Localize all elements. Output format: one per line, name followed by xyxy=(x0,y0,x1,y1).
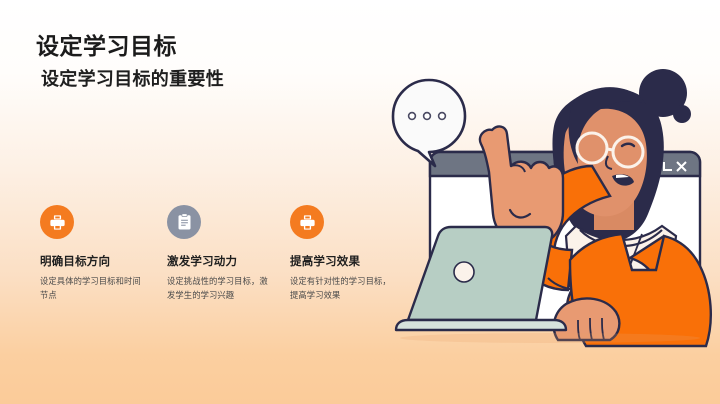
laptop-logo xyxy=(454,262,474,282)
feature-heading: 明确目标方向 xyxy=(40,253,152,269)
clipboard-icon-badge xyxy=(167,205,201,239)
printer-icon xyxy=(298,213,317,232)
ellipsis-dot xyxy=(409,113,416,120)
slide-canvas: 设定学习目标 设定学习目标的重要性 明确目标方向 设定具体的学习目标和时间节点 xyxy=(0,0,720,404)
printer-icon-badge xyxy=(290,205,324,239)
hero-illustration xyxy=(380,20,720,404)
feature-item-1: 明确目标方向 设定具体的学习目标和时间节点 xyxy=(40,205,152,302)
feature-body: 设定挑战性的学习目标，激发学生的学习兴趣 xyxy=(167,275,275,302)
printer-icon-badge xyxy=(40,205,74,239)
feature-list: 明确目标方向 设定具体的学习目标和时间节点 激发学习动力 设定挑战性的学习目标，… xyxy=(40,205,410,315)
feature-item-2: 激发学习动力 设定挑战性的学习目标，激发学生的学习兴趣 xyxy=(167,205,279,302)
illustration-svg xyxy=(380,20,720,404)
page-title: 设定学习目标 xyxy=(36,27,177,61)
feature-heading: 激发学习动力 xyxy=(167,253,279,269)
desk-shadow xyxy=(400,333,700,343)
feature-body: 设定具体的学习目标和时间节点 xyxy=(40,275,148,302)
ellipsis-dot xyxy=(424,113,431,120)
page-subtitle: 设定学习目标的重要性 xyxy=(41,65,224,91)
ellipsis-dot xyxy=(439,113,446,120)
printer-icon xyxy=(48,213,67,232)
clipboard-icon xyxy=(176,213,193,231)
